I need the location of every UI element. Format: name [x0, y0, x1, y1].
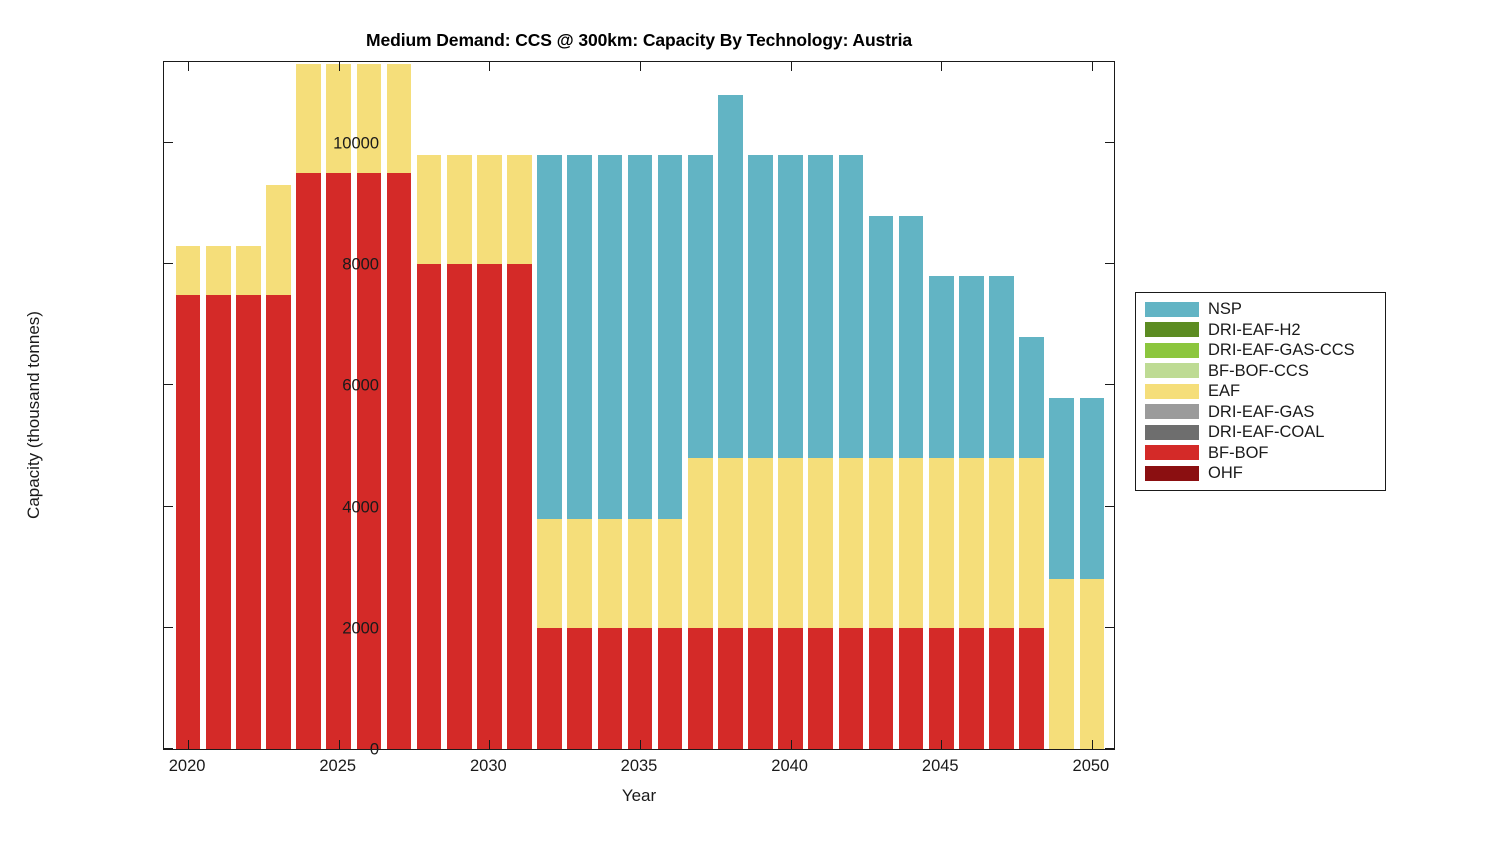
bar-segment-eaf[interactable] [447, 155, 472, 264]
bar-group [387, 61, 412, 749]
y-axis-tick [1105, 627, 1114, 628]
bar-segment-nsp[interactable] [1049, 398, 1074, 580]
legend-swatch-icon [1145, 343, 1199, 358]
legend-item-label: OHF [1208, 465, 1243, 482]
bar-segment-eaf[interactable] [688, 458, 713, 628]
legend-swatch-icon [1145, 466, 1199, 481]
x-axis-tick-label: 2040 [771, 757, 808, 776]
y-axis-title: Capacity (thousand tonnes) [24, 175, 44, 655]
bar-segment-bf-bof[interactable] [176, 295, 201, 749]
bar-group [808, 61, 833, 749]
bar-segment-bf-bof[interactable] [688, 628, 713, 749]
legend-item-label: BF-BOF [1208, 445, 1269, 462]
bar-segment-bf-bof[interactable] [778, 628, 803, 749]
bar-segment-eaf[interactable] [989, 458, 1014, 628]
bar-segment-bf-bof[interactable] [748, 628, 773, 749]
y-axis-tick-label: 4000 [342, 498, 379, 517]
x-axis-tick-label: 2050 [1073, 757, 1110, 776]
bar-segment-bf-bof[interactable] [718, 628, 743, 749]
bar-segment-eaf[interactable] [387, 64, 412, 173]
bar-segment-nsp[interactable] [1019, 337, 1044, 458]
bar-segment-nsp[interactable] [718, 95, 743, 459]
bar-segment-nsp[interactable] [929, 276, 954, 458]
x-axis-tick [188, 740, 189, 749]
bar-segment-eaf[interactable] [357, 64, 382, 173]
y-axis-tick [1105, 263, 1114, 264]
bars-layer [164, 62, 1114, 749]
y-axis-tick-label: 10000 [333, 135, 379, 154]
x-axis-tick [640, 740, 641, 749]
bar-segment-nsp[interactable] [869, 216, 894, 458]
bar-segment-eaf[interactable] [236, 246, 261, 294]
legend-item-label: DRI-EAF-H2 [1208, 322, 1301, 339]
bar-segment-eaf[interactable] [808, 458, 833, 628]
bar-segment-bf-bof[interactable] [628, 628, 653, 749]
y-axis-tick [164, 263, 173, 264]
bar-segment-eaf[interactable] [326, 64, 351, 173]
bar-group [296, 61, 321, 749]
y-axis-tick-label: 6000 [342, 377, 379, 396]
bar-group [477, 61, 502, 749]
x-axis-tick [188, 62, 189, 71]
bar-segment-bf-bof[interactable] [296, 173, 321, 749]
legend-swatch-icon [1145, 404, 1199, 419]
bar-segment-nsp[interactable] [658, 155, 683, 519]
bar-segment-eaf[interactable] [839, 458, 864, 628]
y-axis-tick-label: 0 [370, 741, 379, 760]
y-axis-tick [164, 506, 173, 507]
y-axis-tick [1105, 748, 1114, 749]
y-axis-tick [164, 627, 173, 628]
bar-segment-bf-bof[interactable] [869, 628, 894, 749]
bar-segment-eaf[interactable] [598, 519, 623, 628]
y-axis-tick [164, 384, 173, 385]
legend-swatch-icon [1145, 302, 1199, 317]
bar-segment-nsp[interactable] [839, 155, 864, 458]
x-axis-tick [640, 62, 641, 71]
bar-segment-eaf[interactable] [296, 64, 321, 173]
legend-item-dri-eaf-gas[interactable]: DRI-EAF-GAS [1136, 402, 1385, 423]
bar-segment-bf-bof[interactable] [598, 628, 623, 749]
legend-item-label: DRI-EAF-GAS-CCS [1208, 342, 1355, 359]
legend-item-nsp[interactable]: NSP [1136, 299, 1385, 320]
bar-segment-eaf[interactable] [507, 155, 532, 264]
bar-segment-eaf[interactable] [537, 519, 562, 628]
bar-segment-eaf[interactable] [959, 458, 984, 628]
bar-segment-bf-bof[interactable] [929, 628, 954, 749]
bar-group [628, 61, 653, 749]
y-axis-tick-label: 8000 [342, 256, 379, 275]
chart-legend: NSPDRI-EAF-H2DRI-EAF-GAS-CCSBF-BOF-CCSEA… [1135, 292, 1386, 491]
bar-segment-nsp[interactable] [598, 155, 623, 519]
legend-swatch-icon [1145, 445, 1199, 460]
bar-segment-nsp[interactable] [748, 155, 773, 458]
bar-segment-nsp[interactable] [567, 155, 592, 519]
bar-segment-bf-bof[interactable] [989, 628, 1014, 749]
bar-segment-eaf[interactable] [869, 458, 894, 628]
bar-group [537, 61, 562, 749]
legend-swatch-icon [1145, 425, 1199, 440]
bar-group [236, 61, 261, 749]
x-axis-tick-label: 2025 [319, 757, 356, 776]
legend-item-dri-eaf-h2[interactable]: DRI-EAF-H2 [1136, 320, 1385, 341]
y-axis-tick [164, 142, 173, 143]
legend-item-label: DRI-EAF-GAS [1208, 404, 1314, 421]
legend-item-dri-eaf-coal[interactable]: DRI-EAF-COAL [1136, 422, 1385, 443]
bar-segment-bf-bof[interactable] [1019, 628, 1044, 749]
bar-segment-eaf[interactable] [417, 155, 442, 264]
bar-group [688, 61, 713, 749]
bar-segment-eaf[interactable] [1019, 458, 1044, 628]
bar-group [748, 61, 773, 749]
bar-segment-bf-bof[interactable] [507, 264, 532, 749]
bar-group [1019, 61, 1044, 749]
plot-area [163, 61, 1115, 750]
x-axis-tick [489, 740, 490, 749]
legend-item-label: BF-BOF-CCS [1208, 363, 1309, 380]
bar-group [1080, 61, 1105, 749]
legend-item-bf-bof-ccs[interactable]: BF-BOF-CCS [1136, 361, 1385, 382]
bar-group [959, 61, 984, 749]
bar-group [929, 61, 954, 749]
x-axis-tick-label: 2045 [922, 757, 959, 776]
x-axis-tick-label: 2035 [621, 757, 658, 776]
bar-group [326, 61, 351, 749]
bar-segment-eaf[interactable] [266, 185, 291, 294]
bar-group [839, 61, 864, 749]
y-axis-tick-label: 2000 [342, 619, 379, 638]
legend-item-ohf[interactable]: OHF [1136, 463, 1385, 484]
bar-group [266, 61, 291, 749]
bar-group [899, 61, 924, 749]
bar-group [417, 61, 442, 749]
bar-segment-nsp[interactable] [959, 276, 984, 458]
x-axis-tick [489, 62, 490, 71]
bar-segment-bf-bof[interactable] [839, 628, 864, 749]
bar-segment-bf-bof[interactable] [417, 264, 442, 749]
bar-segment-nsp[interactable] [628, 155, 653, 519]
bar-segment-bf-bof[interactable] [387, 173, 412, 749]
bar-segment-eaf[interactable] [658, 519, 683, 628]
bar-segment-nsp[interactable] [899, 216, 924, 458]
x-axis-title: Year [163, 786, 1115, 806]
x-axis-tick [941, 62, 942, 71]
x-axis-tick [791, 740, 792, 749]
bar-group [176, 61, 201, 749]
bar-group [206, 61, 231, 749]
bar-group [869, 61, 894, 749]
bar-segment-nsp[interactable] [688, 155, 713, 458]
bar-segment-eaf[interactable] [899, 458, 924, 628]
bar-segment-eaf[interactable] [748, 458, 773, 628]
legend-item-eaf[interactable]: EAF [1136, 381, 1385, 402]
bar-segment-bf-bof[interactable] [537, 628, 562, 749]
bar-segment-eaf[interactable] [718, 458, 743, 628]
bar-segment-bf-bof[interactable] [658, 628, 683, 749]
bar-group [718, 61, 743, 749]
bar-segment-nsp[interactable] [989, 276, 1014, 458]
bar-segment-nsp[interactable] [537, 155, 562, 519]
bar-segment-eaf[interactable] [1049, 579, 1074, 749]
chart-title: Medium Demand: CCS @ 300km: Capacity By … [163, 30, 1115, 51]
x-axis-tick [941, 740, 942, 749]
bar-segment-eaf[interactable] [567, 519, 592, 628]
bar-segment-bf-bof[interactable] [266, 295, 291, 749]
legend-swatch-icon [1145, 322, 1199, 337]
bar-group [357, 61, 382, 749]
bar-segment-bf-bof[interactable] [567, 628, 592, 749]
bar-segment-eaf[interactable] [477, 155, 502, 264]
bar-segment-nsp[interactable] [1080, 398, 1105, 580]
legend-item-dri-eaf-gas-ccs[interactable]: DRI-EAF-GAS-CCS [1136, 340, 1385, 361]
bar-segment-nsp[interactable] [778, 155, 803, 458]
x-axis-tick [1092, 740, 1093, 749]
bar-segment-eaf[interactable] [778, 458, 803, 628]
x-axis-tick [339, 62, 340, 71]
x-axis-tick-label: 2030 [470, 757, 507, 776]
bar-segment-eaf[interactable] [176, 246, 201, 294]
y-axis-tick [1105, 506, 1114, 507]
bar-group [989, 61, 1014, 749]
bar-group [658, 61, 683, 749]
bar-segment-bf-bof[interactable] [447, 264, 472, 749]
bar-group [1049, 61, 1074, 749]
bar-segment-bf-bof[interactable] [959, 628, 984, 749]
x-axis-tick [791, 62, 792, 71]
legend-swatch-icon [1145, 363, 1199, 378]
legend-item-label: NSP [1208, 301, 1242, 318]
legend-swatch-icon [1145, 384, 1199, 399]
bar-segment-eaf[interactable] [206, 246, 231, 294]
y-axis-tick [1105, 142, 1114, 143]
legend-item-label: EAF [1208, 383, 1240, 400]
bar-segment-eaf[interactable] [628, 519, 653, 628]
legend-item-label: DRI-EAF-COAL [1208, 424, 1324, 441]
figure-canvas: Medium Demand: CCS @ 300km: Capacity By … [0, 0, 1500, 844]
x-axis-tick [339, 740, 340, 749]
bar-segment-bf-bof[interactable] [477, 264, 502, 749]
y-axis-tick [1105, 384, 1114, 385]
x-axis-tick [1092, 62, 1093, 71]
bar-group [778, 61, 803, 749]
bar-group [598, 61, 623, 749]
bar-segment-bf-bof[interactable] [206, 295, 231, 749]
bar-segment-nsp[interactable] [808, 155, 833, 458]
bar-group [447, 61, 472, 749]
bar-segment-bf-bof[interactable] [899, 628, 924, 749]
bar-group [507, 61, 532, 749]
bar-segment-bf-bof[interactable] [236, 295, 261, 749]
bar-group [567, 61, 592, 749]
y-axis-tick [164, 748, 173, 749]
bar-segment-eaf[interactable] [929, 458, 954, 628]
x-axis-tick-label: 2020 [169, 757, 206, 776]
legend-item-bf-bof[interactable]: BF-BOF [1136, 443, 1385, 464]
bar-segment-bf-bof[interactable] [808, 628, 833, 749]
bar-segment-eaf[interactable] [1080, 579, 1105, 749]
